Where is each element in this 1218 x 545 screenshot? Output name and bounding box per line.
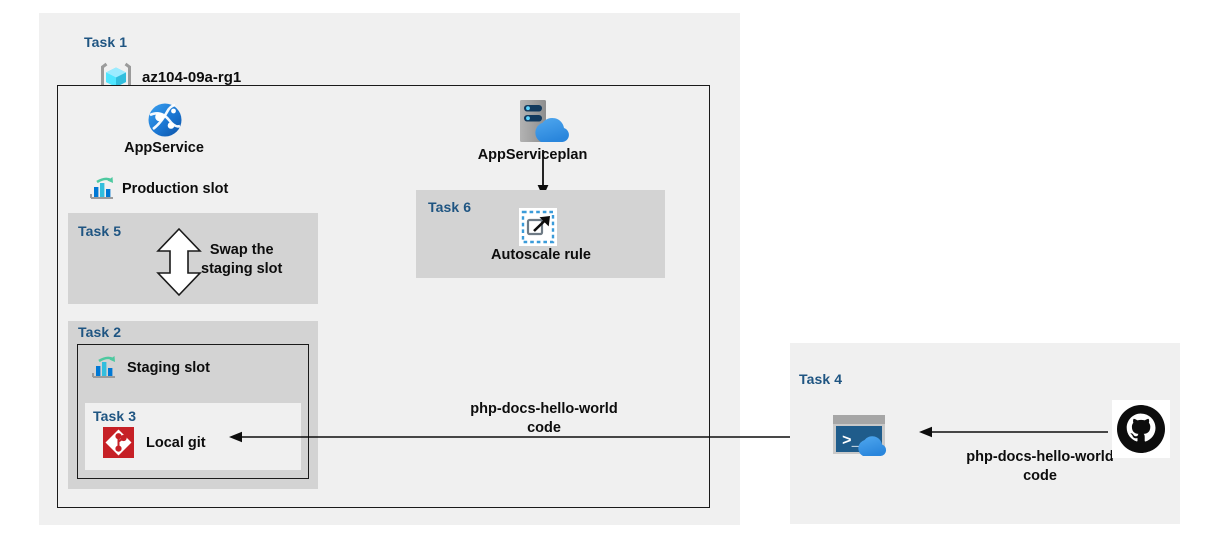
diagram-canvas: Task 1 az104-09a-rg1 xyxy=(0,0,1218,545)
task5-label: Task 5 xyxy=(78,223,121,239)
task6-label: Task 6 xyxy=(428,199,471,215)
task3-label: Task 3 xyxy=(93,408,136,424)
production-slot-label: Production slot xyxy=(122,181,228,197)
task4-label: Task 4 xyxy=(799,371,842,387)
deployment-slot-icon xyxy=(91,355,117,381)
app-service-globe-icon xyxy=(145,100,185,140)
task4-panel: Task 4 >_ xyxy=(790,343,1180,524)
app-service-label: AppService xyxy=(89,140,239,156)
task6-panel: Task 6 Autoscale rule xyxy=(416,190,665,278)
local-git-node: Local git xyxy=(103,427,206,458)
autoscale-expand-arrow-icon xyxy=(519,208,557,246)
github-to-cloudshell-arrow xyxy=(918,425,1108,439)
autoscale-rule-label: Autoscale rule xyxy=(436,247,646,263)
deployment-slot-icon xyxy=(89,176,115,202)
cloud-shell-terminal-icon: >_ xyxy=(833,414,905,460)
task5-panel: Task 5 Swap the staging slot xyxy=(68,213,318,304)
task2-label: Task 2 xyxy=(78,324,121,340)
task2-boundary: Staging slot Task 3 xyxy=(77,344,309,479)
git-logo-icon xyxy=(103,427,134,458)
cloudshell-to-localgit-arrow xyxy=(228,430,824,444)
app-service-plan-label: AppServiceplan xyxy=(455,147,610,163)
double-headed-vertical-arrow-icon xyxy=(156,227,202,297)
staging-slot-node: Staging slot xyxy=(91,355,210,381)
staging-slot-label: Staging slot xyxy=(127,360,210,376)
github-octocat-icon xyxy=(1112,400,1170,458)
resource-group-name: az104-09a-rg1 xyxy=(142,69,241,86)
local-git-label: Local git xyxy=(146,435,206,451)
swap-action-label: Swap the staging slot xyxy=(201,241,282,279)
app-service-plan-server-cloud-icon xyxy=(514,98,572,146)
task1-label: Task 1 xyxy=(84,34,127,50)
task2-panel: Task 2 Staging slot xyxy=(68,321,318,489)
production-slot-node: Production slot xyxy=(89,176,228,202)
